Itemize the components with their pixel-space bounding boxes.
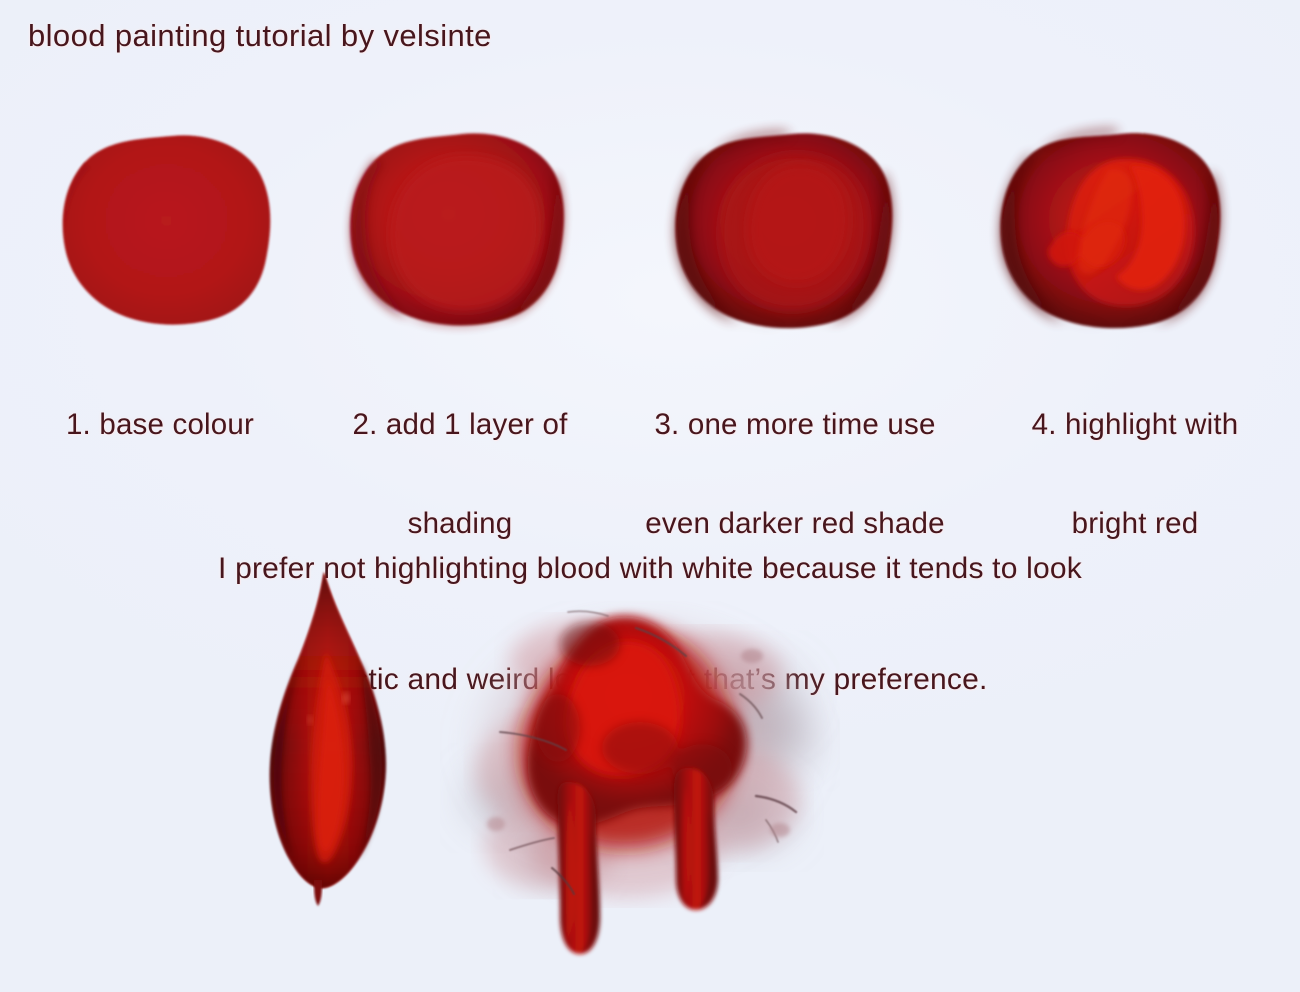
blood-blob-step-3 <box>666 128 914 336</box>
preference-note-line1: I prefer not highlighting blood with whi… <box>0 550 1300 587</box>
blood-blob-step-1 <box>52 128 292 333</box>
tutorial-image: blood painting tutorial by velsinte 1. b… <box>0 0 1300 992</box>
page-title: blood painting tutorial by velsinte <box>28 18 492 54</box>
step-4-caption-line1: 4. highlight with <box>1000 408 1270 441</box>
blood-splatter-example <box>440 600 840 992</box>
step-1-caption-line1: 1. base colour <box>10 408 310 441</box>
step-3-caption-line1: 3. one more time use <box>600 408 990 441</box>
blood-drop-example <box>262 568 422 908</box>
blood-blob-step-4 <box>992 126 1242 338</box>
blood-blob-step-2 <box>340 128 585 333</box>
step-2-caption-line1: 2. add 1 layer of <box>310 408 610 441</box>
